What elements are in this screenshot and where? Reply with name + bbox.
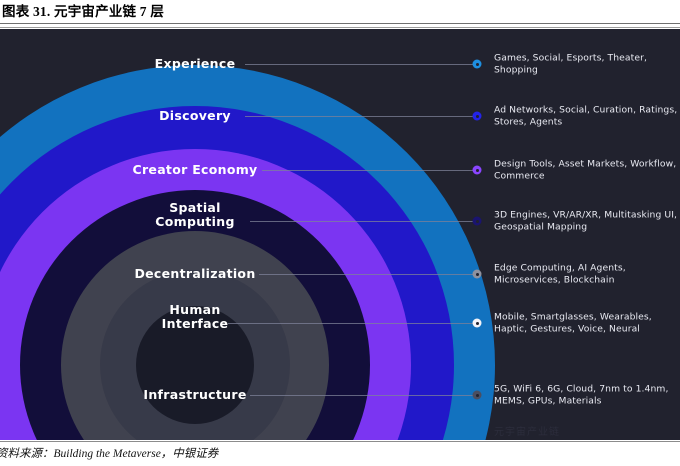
layer-marker-decentralization[interactable] — [473, 270, 482, 279]
layer-marker-experience[interactable] — [473, 60, 482, 69]
connector-line-infrastructure — [250, 395, 475, 396]
metaverse-layers-diagram: Experience Discovery Creator Economy Spa… — [0, 29, 680, 440]
layer-label-decentralization: Decentralization — [134, 267, 255, 281]
connector-line-experience — [245, 64, 475, 65]
layer-description-decentralization: Edge Computing, AI Agents, Microservices… — [494, 263, 680, 286]
layer-description-discovery: Ad Networks, Social, Curation, Ratings, … — [494, 105, 680, 128]
connector-line-decentralization — [259, 274, 475, 275]
layer-label-human-interface: Human Interface — [162, 303, 229, 331]
connector-line-spatial-computing — [250, 221, 475, 222]
layer-description-infrastructure: 5G, WiFi 6, 6G, Cloud, 7nm to 1.4nm, MEM… — [494, 384, 680, 407]
layer-label-discovery: Discovery — [159, 109, 231, 123]
figure-caption: 图表 31. 元宇宙产业链 7 层 — [2, 2, 678, 22]
connector-line-creator-economy — [262, 170, 475, 171]
connector-line-discovery — [245, 116, 475, 117]
layer-description-experience: Games, Social, Esports, Theater, Shoppin… — [494, 53, 680, 76]
layer-marker-human-interface[interactable] — [473, 319, 482, 328]
layer-label-creator-economy: Creator Economy — [132, 163, 257, 177]
layer-marker-infrastructure[interactable] — [473, 391, 482, 400]
source-rule — [0, 441, 680, 442]
figure-source: 资料来源：Building the Metaverse，中银证券 — [0, 445, 680, 463]
layer-description-human-interface: Mobile, Smartglasses, Wearables, Haptic,… — [494, 312, 680, 335]
layer-marker-spatial-computing[interactable] — [473, 217, 482, 226]
layer-description-spatial-computing: 3D Engines, VR/AR/XR, Multitasking UI, G… — [494, 210, 680, 233]
layer-marker-creator-economy[interactable] — [473, 166, 482, 175]
layer-label-experience: Experience — [155, 57, 236, 71]
diagram-watermark: 元宇宙产业链 — [494, 423, 560, 438]
caption-rule-thin — [0, 27, 680, 28]
layer-label-spatial-computing: Spatial Computing — [155, 201, 234, 229]
layer-description-creator-economy: Design Tools, Asset Markets, Workflow, C… — [494, 159, 680, 182]
layer-marker-discovery[interactable] — [473, 112, 482, 121]
layer-label-infrastructure: Infrastructure — [143, 388, 246, 402]
caption-rule-thick — [0, 23, 680, 24]
connector-line-human-interface — [228, 323, 475, 324]
